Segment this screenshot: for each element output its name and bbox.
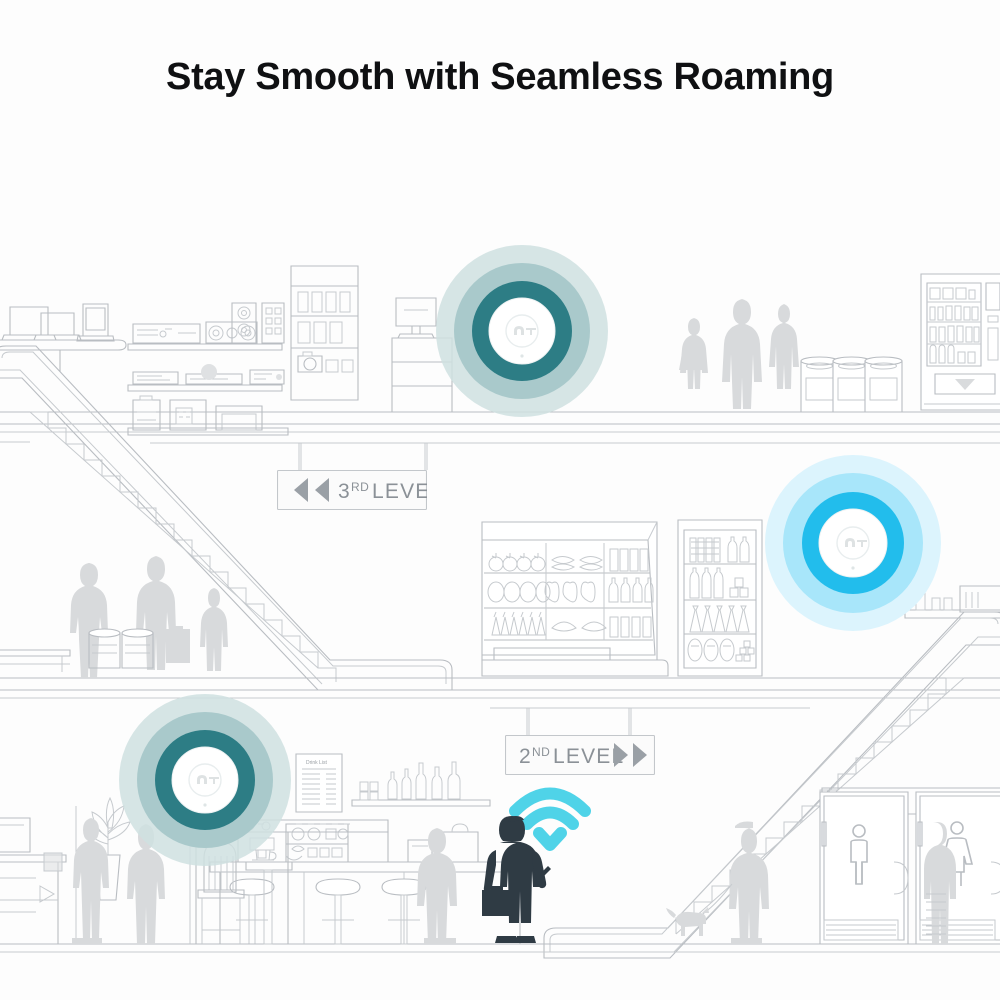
sign-level-3[interactable]: 3 RD LEVEL (277, 470, 427, 510)
drink-list-title: Drink List (306, 760, 327, 766)
wifi-signal-dot (539, 833, 561, 845)
sign-3-label: LEVEL (372, 480, 427, 503)
sign-3-suffix: RD (351, 480, 369, 494)
drink-list-poster: Drink List (296, 754, 342, 812)
chevron-right-icon (614, 743, 647, 767)
mall-scene: 3 RD LEVEL 2 ND LEVEL Drink List (0, 0, 1000, 1000)
sign-level-2[interactable]: 2 ND LEVEL (505, 735, 655, 775)
drink-list-lines (302, 769, 336, 804)
sign-3-ordinal: 3 (338, 480, 351, 503)
wifi-signal-icon (515, 794, 585, 825)
illustration-stage: Stay Smooth with Seamless Roaming (0, 0, 1000, 1000)
roaming-user-group (0, 0, 1000, 1000)
